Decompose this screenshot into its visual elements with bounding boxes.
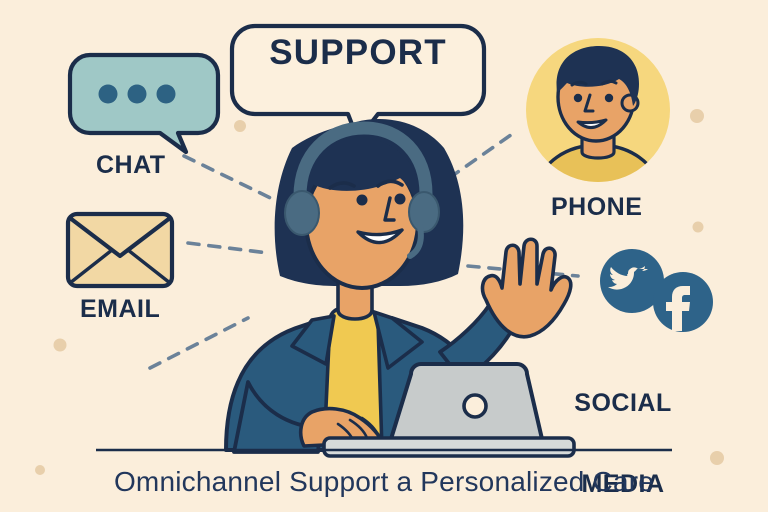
illustration-caption: Omnichannel Support a Personalized Care — [0, 466, 768, 498]
illustration-canvas: SUPPORT CHAT EMAIL PHONE SOCIAL MEDIA Om… — [0, 0, 768, 512]
avatar-eye — [574, 94, 582, 102]
channel-label-social-line1: SOCIAL — [567, 390, 679, 417]
headset-cup-left — [285, 191, 319, 235]
headset-cup-right — [409, 192, 439, 232]
agent-eye — [357, 195, 368, 206]
support-bubble-label: SUPPORT — [253, 33, 463, 73]
channel-label-chat: CHAT — [96, 152, 166, 179]
circle-logo — [464, 395, 486, 417]
decor-dot — [710, 451, 724, 465]
envelope-icon — [68, 214, 172, 286]
agent-eye — [395, 194, 406, 205]
laptop-base — [324, 438, 574, 456]
chat-dot — [99, 85, 118, 104]
envelope-body — [68, 214, 172, 286]
decor-dot — [693, 222, 704, 233]
channel-label-email: EMAIL — [80, 296, 160, 323]
channel-label-phone: PHONE — [551, 194, 642, 221]
avatar-eye — [605, 94, 613, 102]
decor-dot — [690, 109, 704, 123]
decor-dot — [234, 120, 246, 132]
chat-dot — [128, 85, 147, 104]
decor-dot — [54, 339, 67, 352]
chat-dot — [157, 85, 176, 104]
